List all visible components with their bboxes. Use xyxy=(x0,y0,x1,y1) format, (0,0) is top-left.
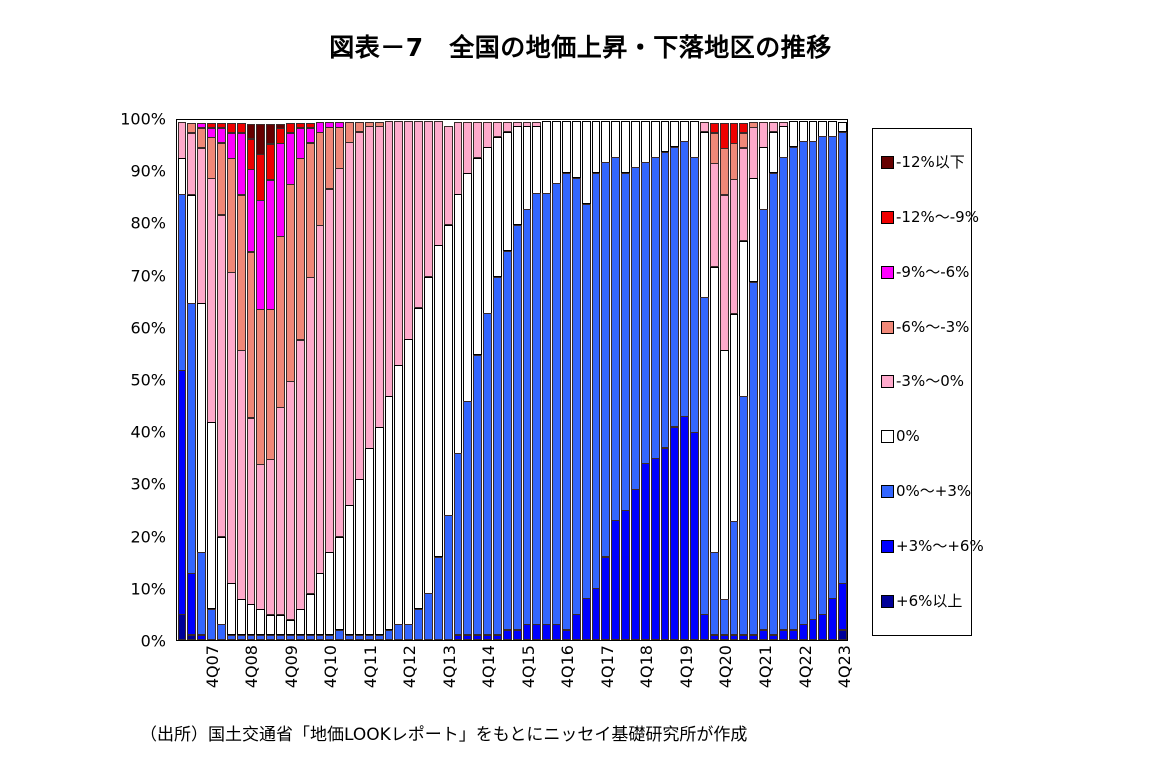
bar-column xyxy=(640,120,650,640)
x-tick-label: 4Q15 xyxy=(519,645,538,688)
bar-segment xyxy=(730,143,739,179)
bar-segment xyxy=(306,128,315,144)
bar-segment xyxy=(730,521,739,635)
bar-segment xyxy=(651,121,660,157)
bar-segment xyxy=(552,624,561,640)
bar-segment xyxy=(286,635,295,640)
bar-segment xyxy=(345,122,354,143)
bar-segment xyxy=(493,137,502,277)
x-tick-label: 4Q11 xyxy=(361,645,380,688)
legend-item[interactable]: -6%～-3% xyxy=(881,316,971,338)
bar-segment xyxy=(385,396,394,630)
legend-item[interactable]: 0% xyxy=(881,426,971,448)
bar-segment xyxy=(375,427,384,635)
bar-segment xyxy=(286,133,295,185)
bar-segment xyxy=(720,123,729,149)
bar-column xyxy=(453,120,463,640)
y-tick-label: 90% xyxy=(130,162,166,181)
bar-segment xyxy=(335,537,344,631)
y-tick-label: 40% xyxy=(130,423,166,442)
bar-segment xyxy=(799,141,808,625)
bar-segment xyxy=(345,142,354,506)
legend-swatch-icon xyxy=(881,430,894,443)
bar-segment xyxy=(325,127,334,189)
bar-segment xyxy=(256,154,265,201)
bar-segment xyxy=(237,133,246,195)
x-tick-label: 4Q23 xyxy=(835,645,854,688)
legend-label: 0%～+3% xyxy=(896,484,971,499)
bar-segment xyxy=(523,209,532,625)
bar-segment xyxy=(503,630,512,640)
bar-segment xyxy=(247,169,256,252)
bar-segment xyxy=(276,128,285,144)
bar-column xyxy=(335,120,345,640)
bar-segment xyxy=(759,209,768,630)
bar-segment xyxy=(493,277,502,636)
bar-segment xyxy=(247,252,256,418)
y-axis: 100%90%80%70%60%50%40%30%20%10%0% xyxy=(118,119,170,641)
bar-segment xyxy=(414,308,423,610)
bar-segment xyxy=(178,122,187,158)
bar-segment xyxy=(266,309,275,460)
bar-column xyxy=(394,120,404,640)
bar-column xyxy=(315,120,325,640)
bar-segment xyxy=(424,121,433,277)
y-tick-label: 100% xyxy=(120,110,166,129)
bar-segment xyxy=(562,121,571,173)
bar-segment xyxy=(710,552,719,635)
bar-segment xyxy=(641,162,650,464)
bar-segment xyxy=(454,194,463,454)
bar-segment xyxy=(611,121,620,157)
bar-segment xyxy=(513,225,522,631)
x-tick-label: 4Q19 xyxy=(677,645,696,688)
bar-segment xyxy=(582,121,591,204)
bar-column xyxy=(493,120,503,640)
legend-item[interactable]: -9%～-6% xyxy=(881,261,971,283)
plot-area xyxy=(176,119,848,641)
stacked-bar-series xyxy=(177,120,847,640)
legend-item[interactable]: +6%以上 xyxy=(881,590,971,612)
bar-segment xyxy=(690,432,699,640)
bar-segment xyxy=(720,599,729,635)
bar-segment xyxy=(355,132,364,480)
bar-segment xyxy=(483,122,492,148)
bar-segment xyxy=(789,121,798,147)
bar-column xyxy=(483,120,493,640)
y-tick-label: 80% xyxy=(130,214,166,233)
bar-segment xyxy=(759,122,768,148)
bar-segment xyxy=(306,277,315,594)
bar-segment xyxy=(394,624,403,640)
legend-label: -9%～-6% xyxy=(896,265,969,280)
bar-segment xyxy=(266,635,275,640)
bar-column xyxy=(423,120,433,640)
bar-column xyxy=(354,120,364,640)
bar-column xyxy=(631,120,641,640)
bar-segment xyxy=(799,624,808,640)
bar-column xyxy=(729,120,739,640)
bar-column xyxy=(473,120,483,640)
bar-segment xyxy=(178,614,187,640)
bar-segment xyxy=(473,635,482,640)
bar-segment xyxy=(641,463,650,640)
y-tick-label: 0% xyxy=(141,632,166,651)
bar-column xyxy=(778,120,788,640)
x-tick-label: 4Q17 xyxy=(598,645,617,688)
x-tick-label: 4Q14 xyxy=(479,645,498,688)
bar-column xyxy=(571,120,581,640)
bar-column xyxy=(719,120,729,640)
bar-segment xyxy=(532,624,541,640)
bar-segment xyxy=(789,147,798,631)
bar-column xyxy=(295,120,305,640)
bar-segment xyxy=(532,126,541,194)
bar-segment xyxy=(690,157,699,433)
bar-segment xyxy=(237,350,246,600)
bar-segment xyxy=(730,314,739,522)
bar-column xyxy=(305,120,315,640)
bar-segment xyxy=(710,267,719,553)
bar-segment xyxy=(513,630,522,640)
bar-segment xyxy=(749,127,758,179)
bar-segment xyxy=(256,124,265,155)
bar-column xyxy=(650,120,660,640)
bar-column xyxy=(660,120,670,640)
legend-label: -12%～-9% xyxy=(896,210,979,225)
bar-segment xyxy=(601,557,610,640)
bar-segment xyxy=(247,418,256,605)
y-tick-label: 50% xyxy=(130,371,166,390)
legend-swatch-icon xyxy=(881,595,894,608)
bar-segment xyxy=(631,167,640,489)
bar-segment xyxy=(187,303,196,573)
bar-segment xyxy=(611,157,620,521)
legend-item[interactable]: +3%～+6% xyxy=(881,536,971,558)
bar-segment xyxy=(296,158,305,340)
bar-segment xyxy=(306,143,315,278)
bar-segment xyxy=(601,162,610,557)
bar-segment xyxy=(404,624,413,640)
bar-segment xyxy=(454,635,463,640)
bar-segment xyxy=(700,614,709,640)
bar-column xyxy=(690,120,700,640)
bar-segment xyxy=(759,147,768,209)
bar-column xyxy=(236,120,246,640)
bar-segment xyxy=(207,178,216,422)
bar-segment xyxy=(217,537,226,625)
bar-segment xyxy=(237,195,246,351)
bar-segment xyxy=(592,121,601,173)
legend-label: +6%以上 xyxy=(896,594,962,609)
bar-segment xyxy=(335,630,344,640)
bar-segment xyxy=(286,184,295,382)
bar-column xyxy=(197,120,207,640)
bar-segment xyxy=(838,583,847,630)
bar-segment xyxy=(503,132,512,252)
bar-segment xyxy=(197,635,206,640)
x-tick-label: 4Q09 xyxy=(282,645,301,688)
bar-segment xyxy=(296,635,305,640)
bar-segment xyxy=(365,448,374,635)
bar-segment xyxy=(680,121,689,142)
y-tick-label: 20% xyxy=(130,527,166,546)
bar-segment xyxy=(355,479,364,635)
bar-column xyxy=(414,120,424,640)
bar-segment xyxy=(828,136,837,599)
legend-swatch-icon xyxy=(881,485,894,498)
bar-segment xyxy=(345,635,354,640)
bar-segment xyxy=(542,121,551,194)
bar-column xyxy=(670,120,680,640)
bar-segment xyxy=(828,598,837,640)
bar-segment xyxy=(720,148,729,195)
bar-column xyxy=(404,120,414,640)
bar-column xyxy=(680,120,690,640)
bar-segment xyxy=(611,520,620,640)
bar-column xyxy=(601,120,611,640)
bar-segment xyxy=(463,173,472,402)
bar-segment xyxy=(256,309,265,465)
bar-segment xyxy=(197,128,206,149)
x-tick-label: 4Q22 xyxy=(796,645,815,688)
bar-segment xyxy=(690,121,699,157)
bar-segment xyxy=(217,128,226,144)
bar-column xyxy=(246,120,256,640)
bar-column xyxy=(709,120,719,640)
bar-segment xyxy=(779,630,788,640)
x-tick-label: 4Q07 xyxy=(203,645,222,688)
bar-column xyxy=(256,120,266,640)
bar-column xyxy=(463,120,473,640)
bar-segment xyxy=(237,635,246,640)
bar-segment xyxy=(217,215,226,537)
bar-segment xyxy=(493,635,502,640)
bar-segment xyxy=(247,635,256,640)
bar-segment xyxy=(542,624,551,640)
bar-segment xyxy=(700,132,709,298)
bar-segment xyxy=(187,195,196,304)
bar-segment xyxy=(483,147,492,313)
bar-segment xyxy=(434,245,443,557)
page-title: 図表－7 全国の地価上昇・下落地区の推移 xyxy=(0,28,1161,64)
bar-column xyxy=(611,120,621,640)
bar-column xyxy=(828,120,838,640)
bar-segment xyxy=(651,157,660,459)
bar-segment xyxy=(316,573,325,635)
bar-segment xyxy=(375,126,384,428)
bar-column xyxy=(552,120,562,640)
bar-segment xyxy=(434,121,443,246)
bar-column xyxy=(818,120,828,640)
bar-segment xyxy=(414,121,423,308)
x-tick-label: 4Q21 xyxy=(756,645,775,688)
bar-segment xyxy=(424,277,433,594)
legend-swatch-icon xyxy=(881,156,894,169)
bar-segment xyxy=(207,137,216,179)
bar-segment xyxy=(739,133,748,149)
bar-segment xyxy=(394,121,403,365)
bar-segment xyxy=(335,168,344,537)
bar-segment xyxy=(178,158,187,194)
bar-segment xyxy=(424,593,433,640)
bar-segment xyxy=(779,157,788,630)
bar-segment xyxy=(759,630,768,640)
bar-column xyxy=(512,120,522,640)
bar-segment xyxy=(266,180,275,310)
bar-segment xyxy=(256,635,265,640)
bar-segment xyxy=(178,194,187,371)
bar-segment xyxy=(276,236,285,408)
bar-segment xyxy=(592,173,601,589)
bar-segment xyxy=(247,604,256,635)
y-tick-label: 70% xyxy=(130,266,166,285)
x-tick-label: 4Q12 xyxy=(400,645,419,688)
bar-column xyxy=(325,120,335,640)
bar-segment xyxy=(572,178,581,615)
bar-segment xyxy=(809,619,818,640)
source-note: （出所）国土交通省「地価LOOKレポート」をもとにニッセイ基礎研究所が作成 xyxy=(140,720,747,745)
bar-segment xyxy=(385,630,394,640)
bar-column xyxy=(285,120,295,640)
bar-segment xyxy=(296,340,305,610)
bar-segment xyxy=(710,133,719,164)
bar-segment xyxy=(720,350,729,600)
bar-segment xyxy=(789,630,798,640)
bar-segment xyxy=(286,620,295,636)
bar-segment xyxy=(542,193,551,625)
bar-column xyxy=(532,120,542,640)
bar-segment xyxy=(266,459,275,615)
x-tick-label: 4Q16 xyxy=(558,645,577,688)
legend-label: 0% xyxy=(896,429,920,444)
bar-segment xyxy=(394,365,403,625)
bar-column xyxy=(502,120,512,640)
legend-swatch-icon xyxy=(881,211,894,224)
legend: -12%以下-12%～-9%-9%～-6%-6%～-3%-3%～0%0%0%～+… xyxy=(872,128,972,636)
bar-segment xyxy=(670,121,679,147)
bar-segment xyxy=(276,635,285,640)
bar-segment xyxy=(631,121,640,168)
bar-segment xyxy=(730,179,739,314)
bar-segment xyxy=(325,635,334,640)
bar-segment xyxy=(552,183,561,625)
bar-segment xyxy=(473,158,482,356)
bar-segment xyxy=(375,635,384,640)
bar-column xyxy=(700,120,710,640)
bar-segment xyxy=(345,505,354,635)
bar-segment xyxy=(621,173,630,511)
bar-segment xyxy=(355,635,364,640)
bar-segment xyxy=(670,147,679,428)
bar-column xyxy=(364,120,374,640)
bar-column xyxy=(384,120,394,640)
legend-item[interactable]: 0%～+3% xyxy=(881,481,971,503)
bar-segment xyxy=(197,552,206,635)
bar-segment xyxy=(454,122,463,195)
legend-item[interactable]: -3%～0% xyxy=(881,371,971,393)
bar-segment xyxy=(306,635,315,640)
bar-segment xyxy=(207,422,216,609)
bar-column xyxy=(433,120,443,640)
bar-segment xyxy=(444,225,453,516)
bar-segment xyxy=(720,195,729,351)
legend-item[interactable]: -12%～-9% xyxy=(881,206,971,228)
bar-segment xyxy=(503,251,512,631)
bar-segment xyxy=(187,133,196,195)
bar-segment xyxy=(661,152,670,448)
y-tick-label: 10% xyxy=(130,579,166,598)
bar-segment xyxy=(483,313,492,635)
bar-segment xyxy=(325,552,334,635)
bar-segment xyxy=(276,143,285,237)
bar-segment xyxy=(513,126,522,225)
y-tick-label: 30% xyxy=(130,475,166,494)
bar-segment xyxy=(749,282,758,636)
bar-column xyxy=(838,120,848,640)
bar-segment xyxy=(730,123,739,144)
bar-column xyxy=(759,120,769,640)
bar-segment xyxy=(247,124,256,140)
bar-segment xyxy=(739,148,748,242)
bar-segment xyxy=(493,122,502,138)
bar-segment xyxy=(828,121,837,137)
bar-segment xyxy=(266,615,275,636)
legend-item[interactable]: -12%以下 xyxy=(881,151,971,173)
bar-segment xyxy=(710,163,719,267)
bar-segment xyxy=(739,635,748,640)
legend-label: -3%～0% xyxy=(896,374,964,389)
bar-column xyxy=(591,120,601,640)
bar-segment xyxy=(463,401,472,635)
bar-segment xyxy=(306,594,315,636)
bar-segment xyxy=(779,126,788,157)
bar-segment xyxy=(266,124,275,145)
bar-segment xyxy=(809,141,818,619)
bar-segment xyxy=(385,121,394,397)
bar-segment xyxy=(404,339,413,625)
bar-segment xyxy=(700,297,709,614)
bar-segment xyxy=(769,173,778,636)
legend-swatch-icon xyxy=(881,540,894,553)
bar-segment xyxy=(749,178,758,282)
bar-segment xyxy=(572,121,581,178)
bar-segment xyxy=(178,370,187,614)
bar-segment xyxy=(739,396,748,635)
bar-segment xyxy=(523,624,532,640)
bar-segment xyxy=(325,189,334,553)
bar-segment xyxy=(818,136,827,614)
bar-segment xyxy=(601,121,610,163)
bar-segment xyxy=(749,635,758,640)
bar-segment xyxy=(473,355,482,636)
bar-segment xyxy=(730,635,739,640)
bar-segment xyxy=(680,416,689,640)
x-tick-label: 4Q08 xyxy=(242,645,261,688)
bar-column xyxy=(581,120,591,640)
bar-segment xyxy=(256,200,265,309)
bar-segment xyxy=(454,453,463,635)
legend-label: -12%以下 xyxy=(896,155,965,170)
bar-segment xyxy=(227,158,236,272)
bar-segment xyxy=(562,630,571,640)
bar-segment xyxy=(710,635,719,640)
bar-column xyxy=(207,120,217,640)
bar-column xyxy=(216,120,226,640)
bar-segment xyxy=(444,515,453,640)
bar-column xyxy=(542,120,552,640)
bar-segment xyxy=(414,609,423,640)
